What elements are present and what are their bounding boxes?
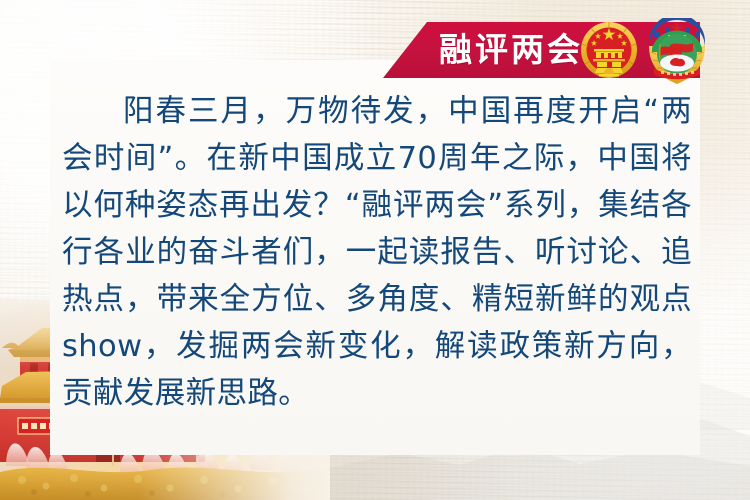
article-paragraph: 阳春三月，万物待发，中国再度开启“两会时间”。在新中国成立70周年之际，中国将以… <box>62 88 692 417</box>
poster-canvas: 融评两会 <box>0 0 750 500</box>
national-emblem-icon <box>577 18 641 86</box>
cppcc-emblem-icon: 1949 <box>644 18 710 88</box>
article-body: 阳春三月，万物待发，中国再度开启“两会时间”。在新中国成立70周年之际，中国将以… <box>62 88 692 417</box>
banner-title-text: 融评两会 <box>439 33 583 66</box>
